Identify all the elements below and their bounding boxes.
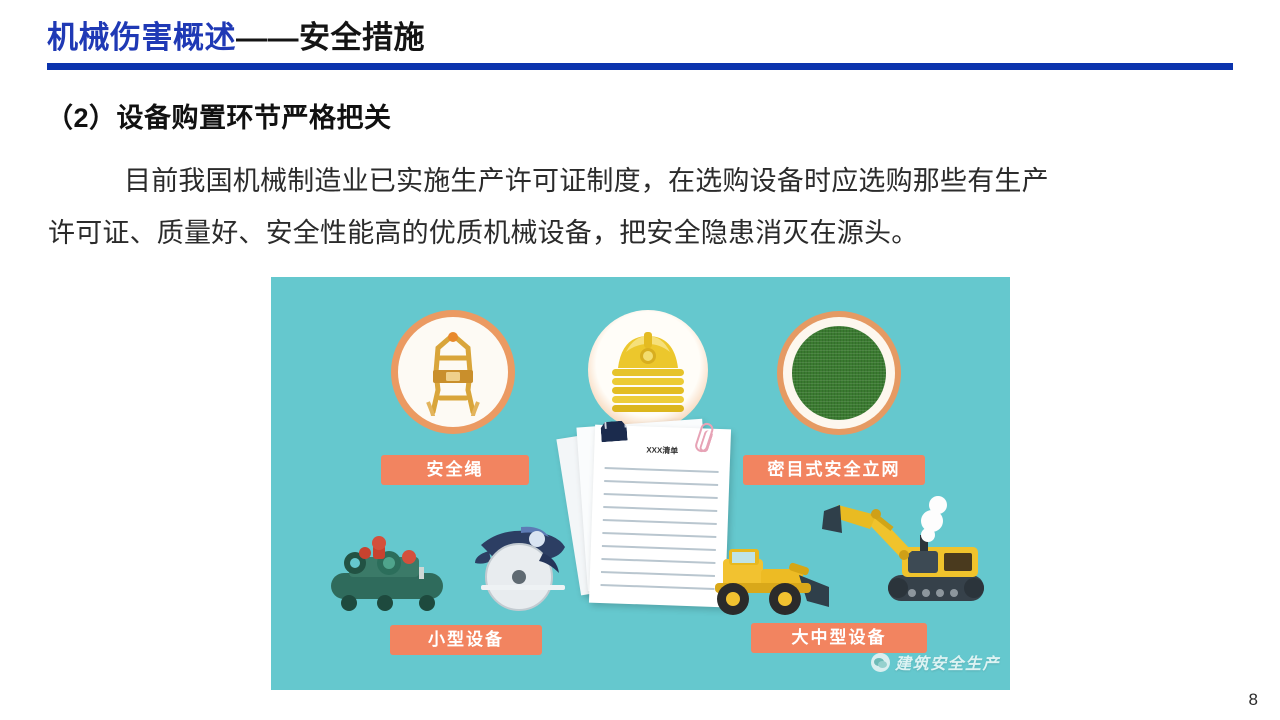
page-number: 8 bbox=[1249, 690, 1258, 710]
safety-equipment-illustration: XXX清单 bbox=[271, 277, 1010, 690]
page-title: 机械伤害概述——安全措施 bbox=[47, 12, 425, 57]
document-title: XXX清单 bbox=[594, 443, 730, 459]
section-subtitle: （2）设备购置环节严格把关 bbox=[46, 96, 392, 135]
slide-root: 机械伤害概述——安全措施 （2）设备购置环节严格把关 目前我国机械制造业已实施生… bbox=[0, 0, 1280, 720]
excavator-icon bbox=[816, 489, 996, 623]
wechat-logo-icon bbox=[871, 653, 890, 672]
hard-hat-icon bbox=[588, 310, 708, 430]
safety-net-icon bbox=[783, 317, 895, 429]
harness-svg bbox=[416, 328, 490, 416]
body-line-1: 目前我国机械制造业已实施生产许可证制度，在选购设备时应选购那些有生产 bbox=[48, 155, 1238, 207]
body-paragraph: 目前我国机械制造业已实施生产许可证制度，在选购设备时应选购那些有生产 许可证、质… bbox=[48, 155, 1238, 259]
hard-hat-svg bbox=[600, 330, 696, 414]
badge-dense-mesh-net: 密目式安全立网 bbox=[743, 455, 925, 485]
binder-clip-icon bbox=[600, 420, 627, 442]
body-line-2: 许可证、质量好、安全性能高的优质机械设备，把安全隐患消灭在源头。 bbox=[48, 207, 1238, 259]
page-title-primary: 机械伤害概述 bbox=[47, 12, 236, 57]
title-underline-rule bbox=[47, 63, 1233, 70]
badge-large-equipment: 大中型设备 bbox=[751, 623, 927, 653]
air-compressor-icon bbox=[323, 527, 453, 617]
safety-harness-icon bbox=[398, 317, 508, 427]
mesh-texture bbox=[792, 326, 886, 420]
circular-saw-icon bbox=[461, 517, 581, 617]
badge-safety-rope: 安全绳 bbox=[381, 455, 529, 485]
page-title-secondary: ——安全措施 bbox=[236, 12, 425, 57]
watermark: 建筑安全生产 bbox=[871, 650, 1000, 674]
watermark-text: 建筑安全生产 bbox=[895, 650, 1000, 674]
badge-small-equipment: 小型设备 bbox=[390, 625, 542, 655]
